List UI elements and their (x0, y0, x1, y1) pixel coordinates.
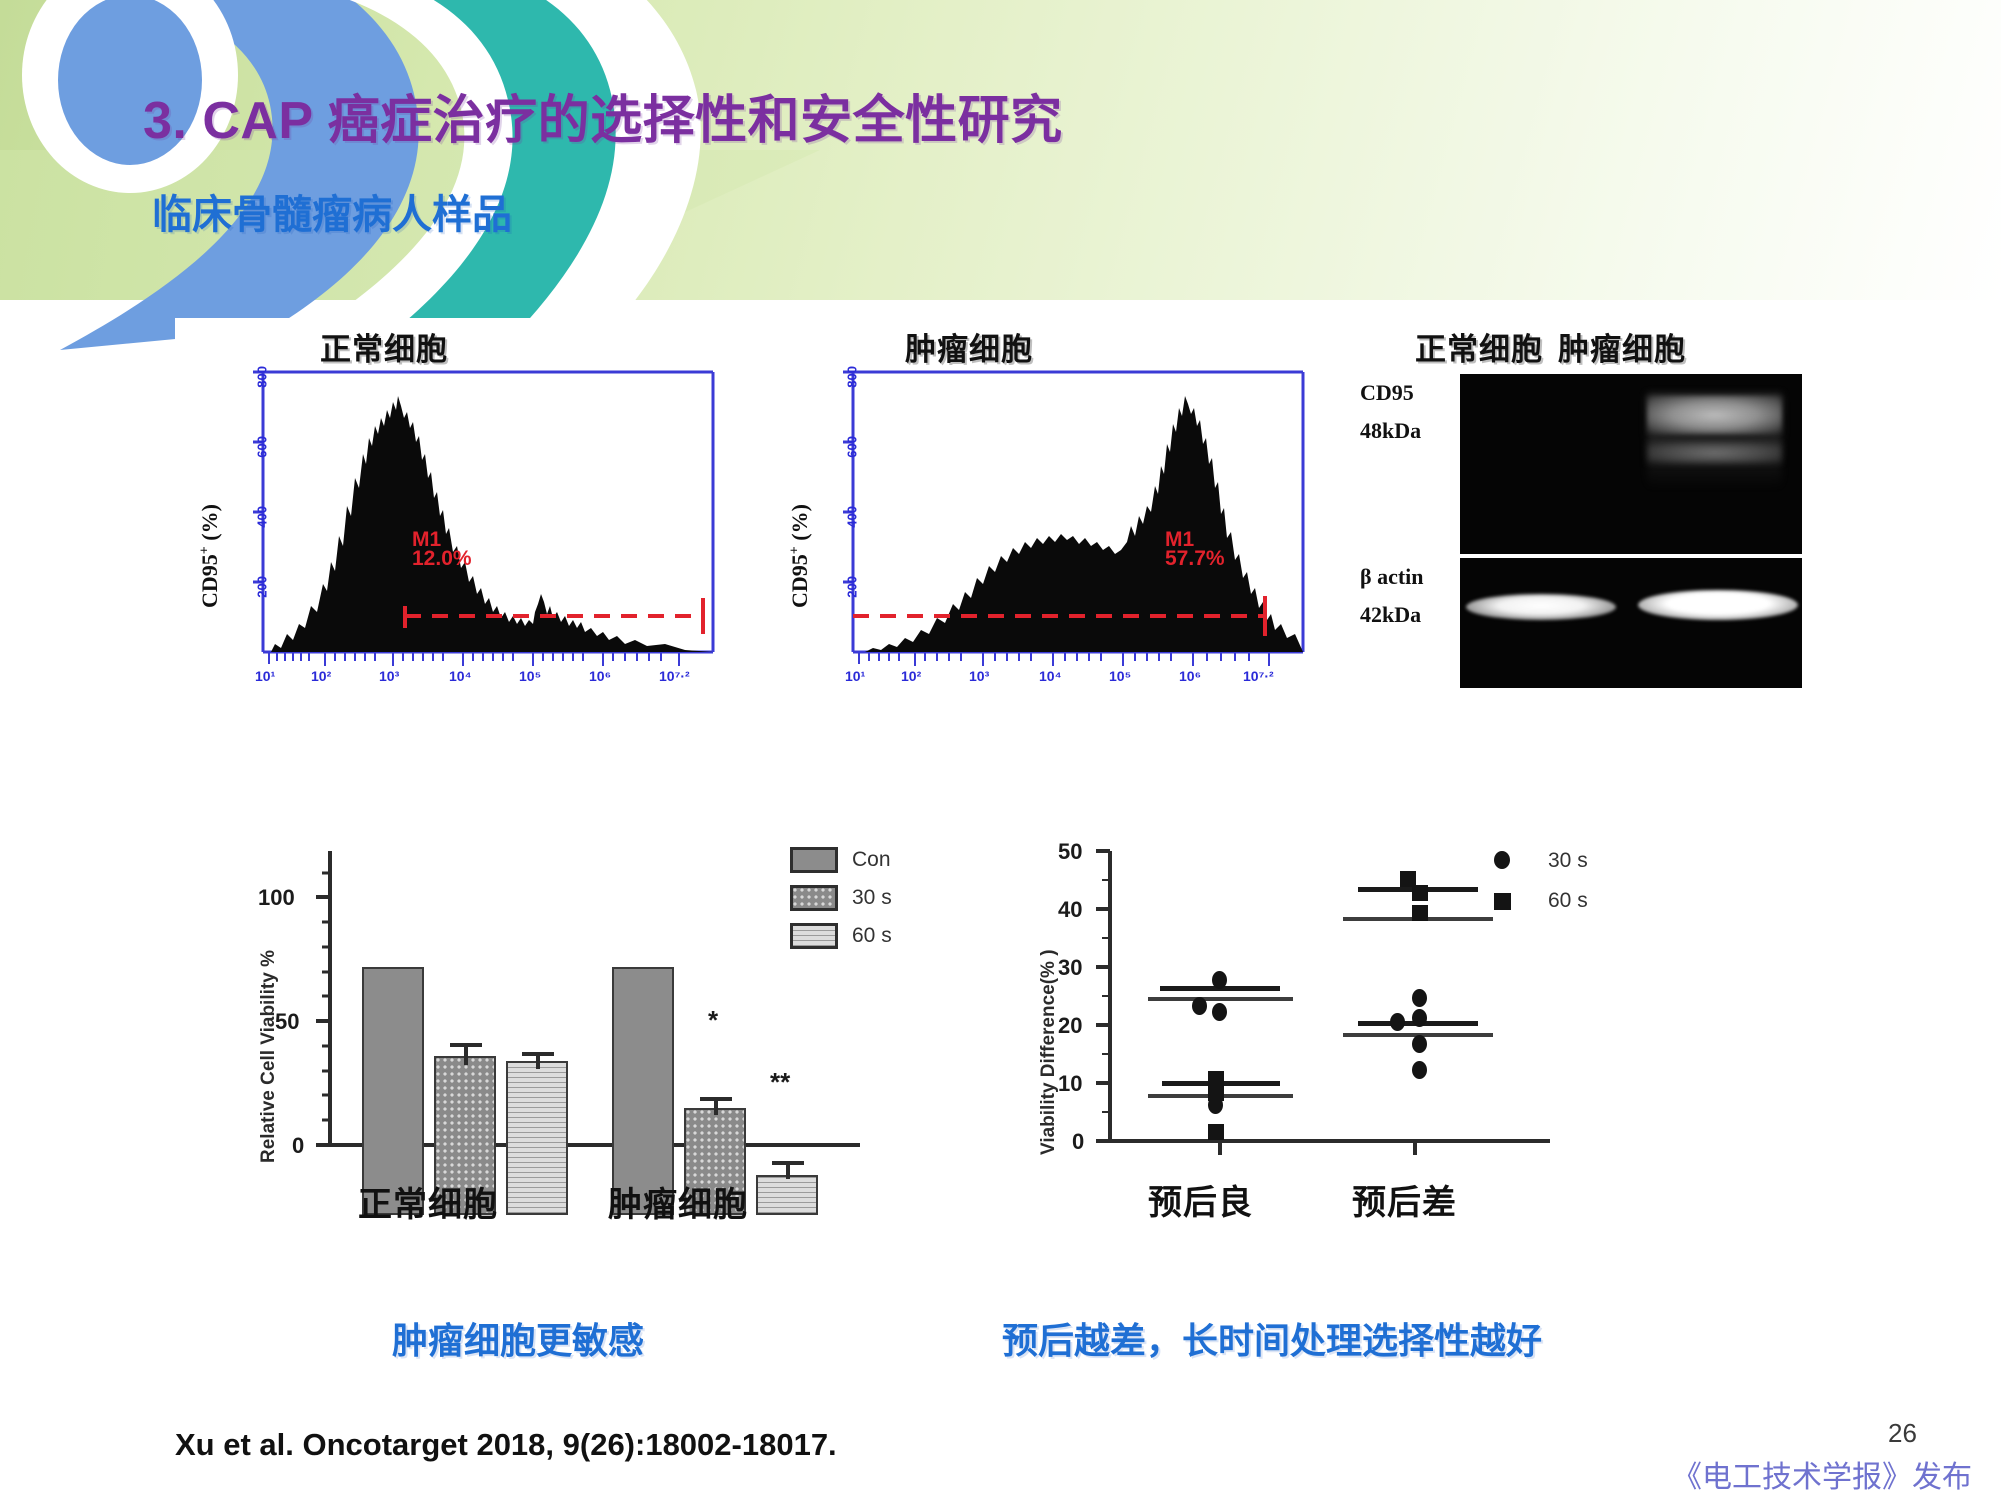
scatter-point-poor-60s-4 (1412, 989, 1427, 1007)
blot-label-actin-mw: 42kDa (1360, 602, 1421, 628)
scatter-ytick-10: 10 (1058, 1071, 1082, 1097)
facs-normal-xtick-7: 10⁷·² (659, 668, 690, 684)
facs-tumor-xtick-3: 10³ (969, 668, 989, 684)
top-figure-panel: 正常细胞 CD95+ (%) (175, 318, 1855, 768)
bar-tumor-60s (756, 1175, 818, 1215)
bar-chart-panel: Relative Cell Viability % 0 50 100 (240, 845, 940, 1265)
scatter-point-poor-60s-3 (1412, 905, 1428, 921)
western-blot-panel: 正常细胞 肿瘤细胞 CD95 48kDa β actin 42kDa (1360, 318, 1855, 768)
scatter-point-poor-60s-2 (1412, 885, 1428, 901)
facs-tumor-xtick-5: 10⁵ (1109, 668, 1131, 684)
blot-band-actin-normal (1466, 594, 1616, 620)
scatter-category-poor: 预后差 (1352, 1175, 1457, 1224)
caption-right: 预后越差，长时间处理选择性越好 (1002, 1312, 1542, 1364)
facs-normal-ytick-200: 200 (255, 576, 270, 598)
facs-normal-ylabel-unit: (%) (197, 504, 222, 541)
semline-good-30s-upper (1148, 997, 1293, 1001)
scatter-ytick-20: 20 (1058, 1013, 1082, 1039)
legend-marker-square-60s (1494, 893, 1511, 910)
legend-swatch-60s (790, 923, 838, 949)
facs-tumor-ytick-400: 400 (845, 506, 860, 528)
significance-tumor-30s: * (708, 1005, 718, 1036)
errorbar-normal-30s-stem (464, 1045, 468, 1065)
legend-swatch-30s (790, 885, 838, 911)
facs-tumor-ylabel-text: CD95 (787, 554, 812, 608)
scatter-point-good-30s-1 (1212, 971, 1227, 989)
facs-tumor-xtick-6: 10⁶ (1179, 668, 1201, 684)
scatter-point-good-60s-3 (1208, 1096, 1223, 1114)
blot-band-actin-tumor (1638, 590, 1798, 620)
scatter-legend-label-60s: 60 s (1548, 889, 1588, 913)
facs-normal-gate-value: 12.0% (412, 549, 472, 568)
facs-tumor-gate-label: M1 57.7% (1165, 530, 1225, 569)
decorative-swirl-graphic (0, 0, 920, 350)
legend-label-60s: 60 s (852, 924, 892, 948)
facs-normal-xtick-2: 10² (311, 668, 331, 684)
scatter-ytick-40: 40 (1058, 897, 1082, 923)
scatter-point-good-60s-4 (1208, 1124, 1224, 1140)
blot-band-cd95-tumor-smear (1647, 394, 1782, 489)
facs-normal-plot (235, 366, 715, 696)
facs-normal-ylabel: CD95+ (%) (197, 504, 223, 608)
scatter-point-good-30s-2 (1192, 997, 1207, 1015)
facs-tumor-ytick-200: 200 (845, 576, 860, 598)
facs-tumor-ylabel: CD95+ (%) (787, 504, 813, 608)
bar-category-normal: 正常细胞 (358, 1177, 498, 1226)
facs-normal-xtick-1: 10¹ (255, 668, 275, 684)
blot-image-cd95 (1460, 374, 1802, 554)
page-title: 3. CAP 癌症治疗的选择性和安全性研究 (143, 78, 1063, 153)
facs-normal-xtick-5: 10⁵ (519, 668, 541, 684)
facs-tumor-ylabel-unit: (%) (787, 504, 812, 541)
facs-tumor-xtick-1: 10¹ (845, 668, 865, 684)
bar-chart-legend: Con 30 s 60 s (790, 845, 950, 955)
facs-normal-title: 正常细胞 (320, 324, 448, 369)
page-subtitle: 临床骨髓瘤病人样品 (152, 182, 512, 240)
facs-normal-xtick-4: 10⁴ (449, 668, 472, 684)
facs-tumor-title: 肿瘤细胞 (905, 324, 1033, 369)
facs-normal-gate-label: M1 12.0% (412, 530, 472, 569)
scatter-legend-label-30s: 30 s (1548, 849, 1588, 873)
scatter-category-good: 预后良 (1148, 1175, 1253, 1224)
caption-left: 肿瘤细胞更敏感 (392, 1312, 644, 1364)
facs-normal-ytick-600: 600 (255, 436, 270, 458)
errorbar-tumor-60s-stem (786, 1161, 790, 1179)
scatter-point-poor-30s-3 (1412, 1035, 1427, 1053)
bar-ytick-100: 100 (258, 885, 295, 911)
facs-tumor-gate-value: 57.7% (1165, 549, 1225, 568)
slide-canvas: 3. CAP 癌症治疗的选择性和安全性研究 临床骨髓瘤病人样品 正常细胞 CD9… (0, 0, 2001, 1501)
facs-normal-ylabel-sup: + (198, 546, 213, 554)
legend-label-con: Con (852, 848, 891, 872)
scatter-point-good-30s-3 (1212, 1003, 1227, 1021)
scatter-chart-panel: Viability Difference(% ) 0 10 20 (1030, 845, 1730, 1265)
bar-ytick-50: 50 (275, 1009, 299, 1035)
legend-marker-circle-30s (1494, 851, 1510, 869)
legend-swatch-con (790, 847, 838, 873)
blot-label-cd95-mw: 48kDa (1360, 418, 1421, 444)
page-number: 26 (1888, 1418, 1917, 1449)
facs-normal-xtick-6: 10⁶ (589, 668, 611, 684)
facs-panel-normal: 正常细胞 CD95+ (%) (175, 318, 725, 768)
facs-tumor-ylabel-sup: + (788, 546, 803, 554)
facs-tumor-plot (825, 366, 1305, 696)
facs-normal-ylabel-text: CD95 (197, 554, 222, 608)
facs-normal-ytick-400: 400 (255, 506, 270, 528)
scatter-ytick-50: 50 (1058, 839, 1082, 865)
errorbar-tumor-30s-stem (714, 1099, 718, 1115)
scatter-point-poor-30s-1 (1390, 1013, 1405, 1031)
legend-label-30s: 30 s (852, 886, 892, 910)
blot-header-normal: 正常细胞 (1415, 324, 1543, 369)
scatter-chart-legend: 30 s 60 s (1490, 845, 1670, 925)
scatter-point-poor-30s-2 (1412, 1009, 1427, 1027)
watermark-text: 《电工技术学报》发布 (1672, 1452, 1972, 1496)
facs-tumor-xtick-2: 10² (901, 668, 921, 684)
facs-normal-ytick-800: 800 (255, 366, 270, 388)
bar-ytick-0: 0 (292, 1133, 304, 1159)
bar-normal-60s (506, 1061, 568, 1215)
scatter-ytick-30: 30 (1058, 955, 1082, 981)
blot-image-actin (1460, 558, 1802, 688)
citation-text: Xu et al. Oncotarget 2018, 9(26):18002-1… (175, 1427, 837, 1463)
errorbar-normal-60s-stem (536, 1054, 540, 1069)
facs-panel-tumor: 肿瘤细胞 CD95+ (%) (765, 318, 1315, 768)
significance-tumor-60s: ** (770, 1067, 790, 1098)
bar-category-tumor: 肿瘤细胞 (608, 1177, 748, 1226)
blot-header-tumor: 肿瘤细胞 (1558, 324, 1686, 369)
scatter-ytick-0: 0 (1072, 1129, 1084, 1155)
scatter-point-poor-30s-4 (1412, 1061, 1427, 1079)
facs-tumor-xtick-7: 10⁷·² (1243, 668, 1274, 684)
facs-tumor-ytick-800: 800 (845, 366, 860, 388)
blot-label-cd95-protein: CD95 (1360, 380, 1414, 406)
blot-label-actin-protein: β actin (1360, 564, 1424, 590)
facs-tumor-ytick-600: 600 (845, 436, 860, 458)
facs-tumor-xtick-4: 10⁴ (1039, 668, 1062, 684)
facs-normal-xtick-3: 10³ (379, 668, 399, 684)
